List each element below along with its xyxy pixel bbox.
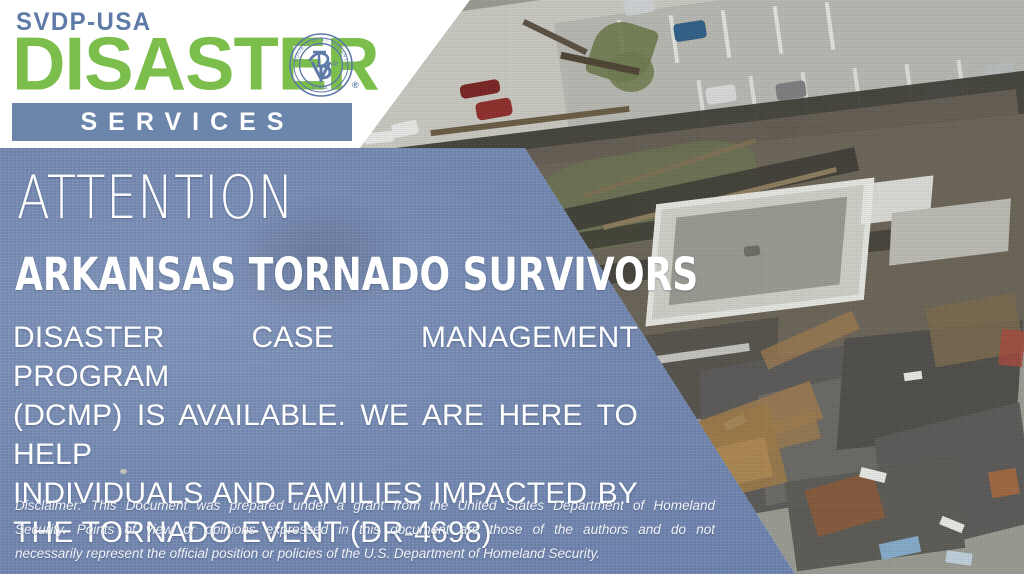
logo-services-band: SERVICES <box>12 103 352 141</box>
attention-heading: ATTENTION <box>17 168 295 228</box>
svdp-seal-icon: de U.S.A. SOCIETY OF ST. VINCENT de PAUL <box>288 32 354 98</box>
svg-text:U.S.A.: U.S.A. <box>312 86 330 92</box>
svg-text:de: de <box>331 59 339 68</box>
disclaimer-line-1: Disclaimer: This Document was prepared u… <box>15 494 715 518</box>
body-line-1: DISASTER CASE MANAGEMENT PROGRAM <box>13 318 638 396</box>
disclaimer-text: Disclaimer: This Document was prepared u… <box>15 494 715 566</box>
disclaimer-line-3: necessarily represent the official posit… <box>15 542 715 566</box>
logo-word-services: SERVICES <box>12 103 352 141</box>
registered-trademark-mark: ® <box>352 80 359 90</box>
print-speck <box>120 469 127 474</box>
disclaimer-line-2: Security. Points of view or opinions exp… <box>15 518 715 542</box>
body-line-2: (DCMP) IS AVAILABLE. WE ARE HERE TO HELP <box>13 396 638 474</box>
flyer-canvas: SVDP-USA DISASTER SERVICES de U.S.A. SOC… <box>0 0 1024 574</box>
svdp-disaster-services-logo: SVDP-USA DISASTER SERVICES de U.S.A. SOC… <box>0 0 380 148</box>
audience-headline: ARKANSAS TORNADO SURVIVORS <box>15 252 698 297</box>
